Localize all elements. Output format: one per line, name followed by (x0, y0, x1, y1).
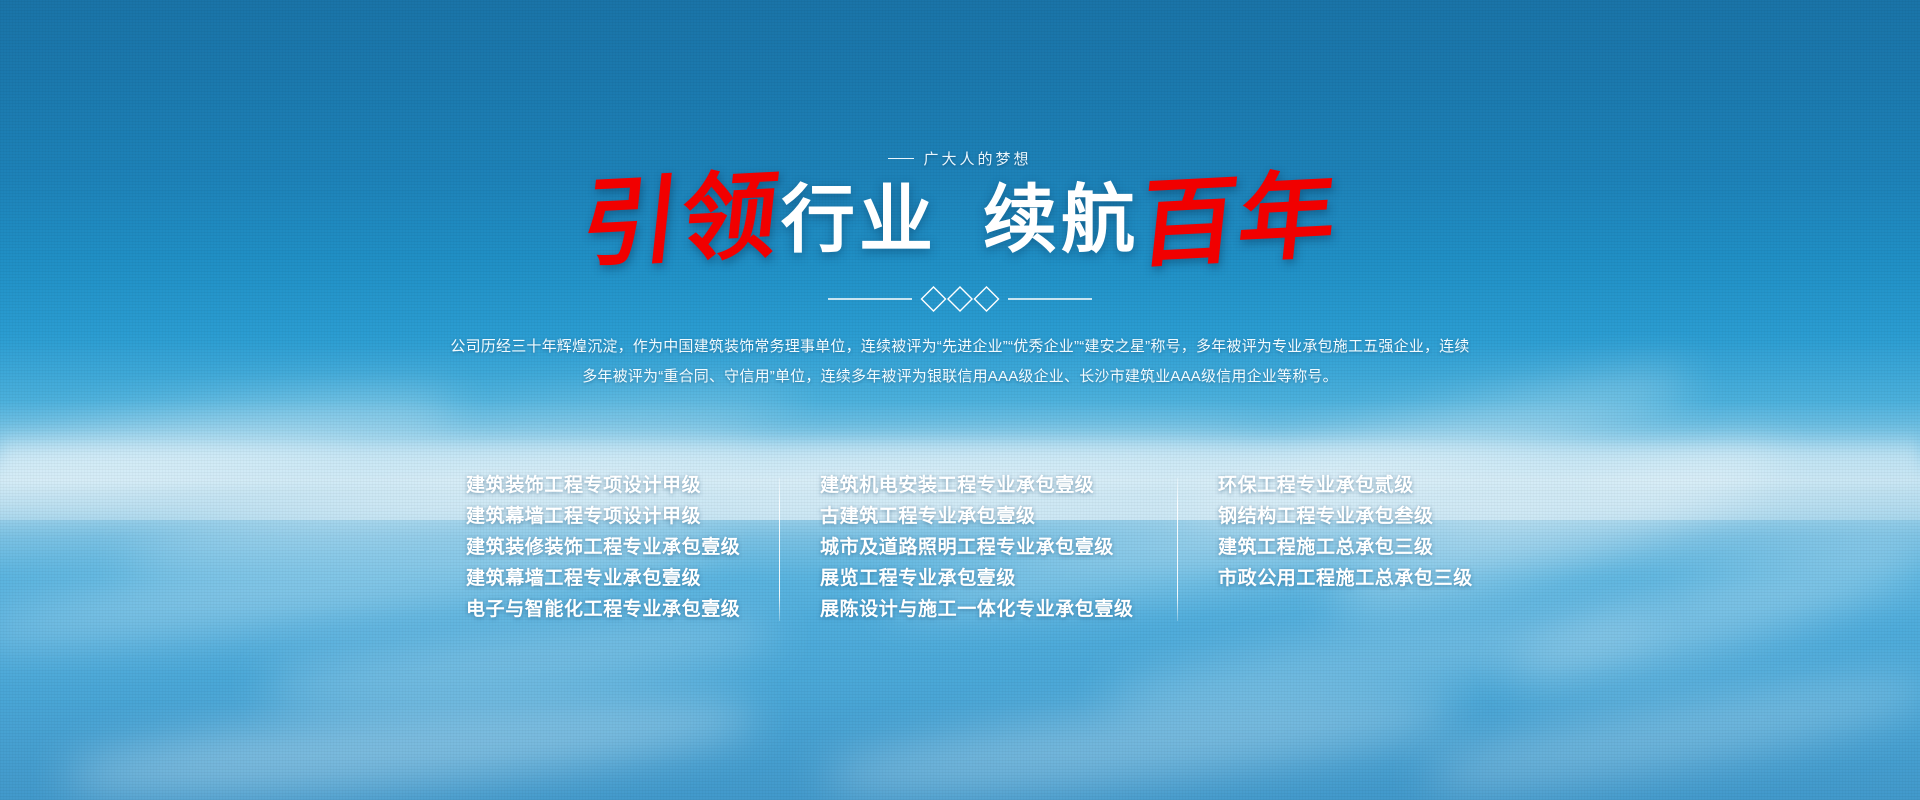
list-item: 城市及道路照明工程专业承包壹级 (820, 532, 1134, 563)
ornamental-divider (0, 286, 1920, 317)
list-item: 市政公用工程施工总承包三级 (1218, 563, 1473, 594)
hero-banner: 广大人的梦想 引领行业续航百年 公司历经三十年辉煌沉淀，作为中国建筑装饰常务理事… (0, 0, 1920, 800)
list-item: 建筑机电安装工程专业承包壹级 (820, 470, 1134, 501)
list-item: 电子与智能化工程专业承包壹级 (466, 594, 740, 625)
headline-part-century: 百年 (1135, 167, 1343, 273)
hero-content: 广大人的梦想 引领行业续航百年 公司历经三十年辉煌沉淀，作为中国建筑装饰常务理事… (0, 0, 1920, 800)
hero-headline: 引领行业续航百年 (0, 172, 1920, 268)
qualification-column-2: 建筑机电安装工程专业承包壹级 古建筑工程专业承包壹级 城市及道路照明工程专业承包… (820, 470, 1134, 625)
list-item: 建筑幕墙工程专项设计甲级 (466, 501, 740, 532)
description-line-1: 公司历经三十年辉煌沉淀，作为中国建筑装饰常务理事单位，连续被评为“先进企业”“优… (425, 332, 1495, 362)
list-item: 古建筑工程专业承包壹级 (820, 501, 1134, 532)
qualification-column-3: 环保工程专业承包贰级 钢结构工程专业承包叁级 建筑工程施工总承包三级 市政公用工… (1218, 470, 1473, 594)
list-item: 展览工程专业承包壹级 (820, 563, 1134, 594)
hero-eyebrow: 广大人的梦想 (0, 148, 1920, 169)
qualification-column-1: 建筑装饰工程专项设计甲级 建筑幕墙工程专项设计甲级 建筑装修装饰工程专业承包壹级… (466, 470, 740, 625)
list-item: 环保工程专业承包贰级 (1218, 470, 1473, 501)
company-description: 公司历经三十年辉煌沉淀，作为中国建筑装饰常务理事单位，连续被评为“先进企业”“优… (425, 332, 1495, 392)
list-item: 建筑装饰工程专项设计甲级 (466, 470, 740, 501)
triple-diamond-divider-icon (826, 286, 1094, 312)
headline-part-industry: 行业 (781, 183, 937, 257)
headline-part-endure: 续航 (983, 183, 1139, 257)
list-item: 展陈设计与施工一体化专业承包壹级 (820, 594, 1134, 625)
eyebrow-dash-icon (888, 158, 914, 159)
list-item: 建筑幕墙工程专业承包壹级 (466, 563, 740, 594)
description-line-2: 多年被评为“重合同、守信用”单位，连续多年被评为银联信用AAA级企业、长沙市建筑… (425, 362, 1495, 392)
list-item: 建筑工程施工总承包三级 (1218, 532, 1473, 563)
list-item: 建筑装修装饰工程专业承包壹级 (466, 532, 740, 563)
list-item: 钢结构工程专业承包叁级 (1218, 501, 1473, 532)
eyebrow-text: 广大人的梦想 (923, 151, 1031, 168)
headline-part-lead: 引领 (577, 167, 785, 273)
qualification-lists: 建筑装饰工程专项设计甲级 建筑幕墙工程专项设计甲级 建筑装修装饰工程专业承包壹级… (0, 470, 1920, 650)
